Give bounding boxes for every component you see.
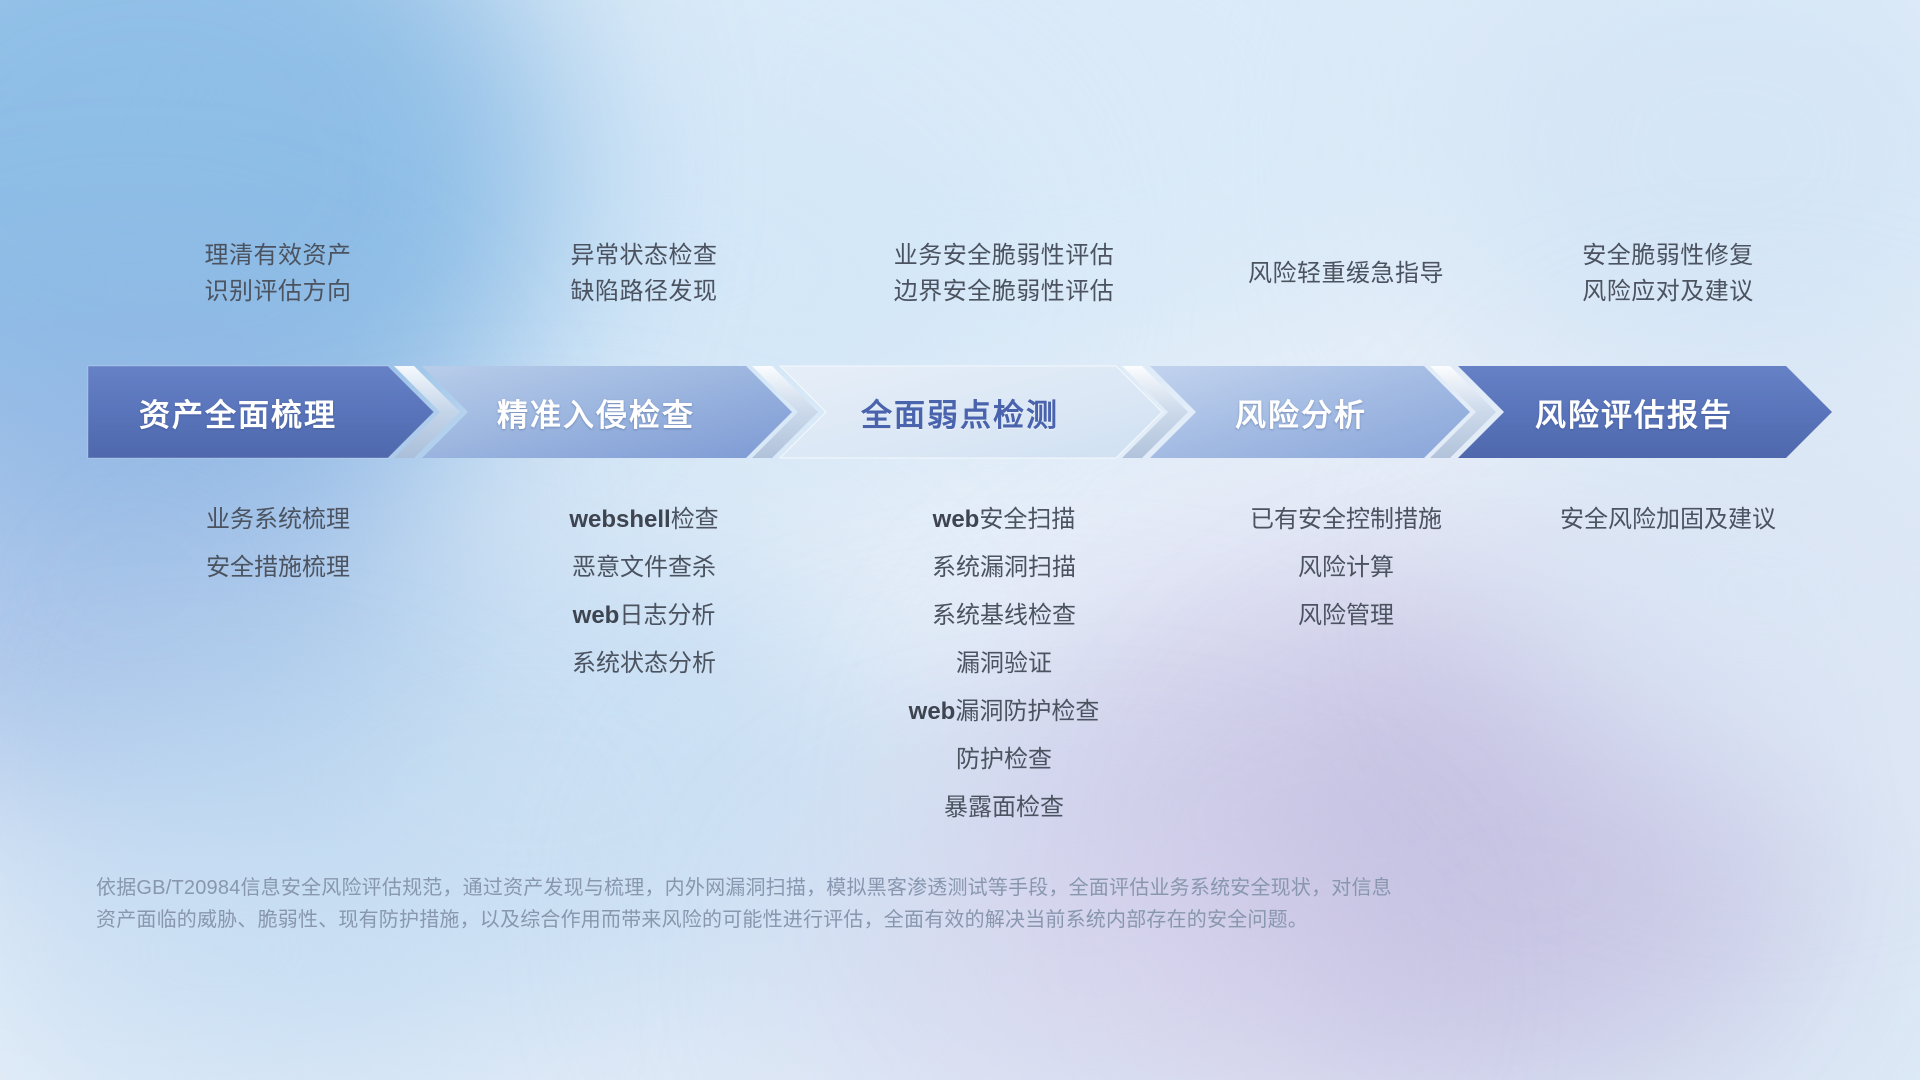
top-notes-risk-analysis: 风险轻重缓急指导 xyxy=(1188,226,1504,322)
list-item: 系统状态分析 xyxy=(572,640,716,688)
list-item-text: 系统状态分析 xyxy=(572,650,716,677)
list-item-text: 检查 xyxy=(671,506,719,533)
chevron-shape-weakness-detection[interactable] xyxy=(780,366,1162,458)
list-item: 已有安全控制措施 xyxy=(1250,496,1442,544)
list-item-text: 系统漏洞扫描 xyxy=(932,554,1076,581)
bottom-list-weakness-detection: web安全扫描 系统漏洞扫描 系统基线检查 漏洞验证 web漏洞防护检查 防护检… xyxy=(820,496,1188,832)
bottom-list-intrusion-check: webshell检查 恶意文件查杀 web日志分析 系统状态分析 xyxy=(468,496,820,832)
bottom-list-asset-inventory: 业务系统梳理 安全措施梳理 xyxy=(88,496,468,832)
chevron-shape-risk-report[interactable] xyxy=(1458,366,1832,458)
list-item-text: 恶意文件查杀 xyxy=(572,554,716,581)
top-note-line: 理清有效资产 xyxy=(205,244,352,268)
list-item-text: 风险计算 xyxy=(1298,554,1394,581)
process-diagram: 理清有效资产 识别评估方向 异常状态检查 缺陷路径发现 业务安全脆弱性评估 边界… xyxy=(0,0,1920,1080)
list-item-text: 风险管理 xyxy=(1298,602,1394,629)
list-item: 漏洞验证 xyxy=(956,640,1052,688)
top-captions-row: 理清有效资产 识别评估方向 异常状态检查 缺陷路径发现 业务安全脆弱性评估 边界… xyxy=(88,226,1832,322)
top-notes-intrusion-check: 异常状态检查 缺陷路径发现 xyxy=(468,226,820,322)
top-notes-weakness-detection: 业务安全脆弱性评估 边界安全脆弱性评估 xyxy=(820,226,1188,322)
list-item-text: 漏洞验证 xyxy=(956,650,1052,677)
list-item: web日志分析 xyxy=(573,592,716,640)
list-item: web安全扫描 xyxy=(933,496,1076,544)
list-item-text: 日志分析 xyxy=(619,602,715,629)
list-item: 风险计算 xyxy=(1298,544,1394,592)
chevron-shapes xyxy=(88,366,1832,458)
list-item: 业务系统梳理 xyxy=(206,496,350,544)
footer-line-1: 依据GB/T20984信息安全风险评估规范，通过资产发现与梳理，内外网漏洞扫描，… xyxy=(96,872,1656,904)
bottom-list-risk-analysis: 已有安全控制措施 风险计算 风险管理 xyxy=(1188,496,1504,832)
top-note-line: 业务安全脆弱性评估 xyxy=(894,244,1115,268)
list-item-prefix: web xyxy=(573,602,620,629)
top-note-line: 边界安全脆弱性评估 xyxy=(894,280,1115,304)
list-item: webshell检查 xyxy=(569,496,718,544)
top-note-line: 安全脆弱性修复 xyxy=(1582,244,1754,268)
list-item: 暴露面检查 xyxy=(944,784,1064,832)
list-item: 防护检查 xyxy=(956,736,1052,784)
top-notes-risk-report: 安全脆弱性修复 风险应对及建议 xyxy=(1504,226,1832,322)
footer-description: 依据GB/T20984信息安全风险评估规范，通过资产发现与梳理，内外网漏洞扫描，… xyxy=(96,872,1656,936)
list-item: 系统漏洞扫描 xyxy=(932,544,1076,592)
top-note-line: 缺陷路径发现 xyxy=(571,280,718,304)
list-item: 恶意文件查杀 xyxy=(572,544,716,592)
list-item-text: 安全扫描 xyxy=(979,506,1075,533)
list-item-prefix: web xyxy=(909,698,956,725)
chevron-shape-asset-inventory[interactable] xyxy=(88,366,434,458)
list-item-prefix: web xyxy=(933,506,980,533)
list-item: web漏洞防护检查 xyxy=(909,688,1100,736)
top-note-line: 识别评估方向 xyxy=(205,280,352,304)
top-note-line: 风险轻重缓急指导 xyxy=(1248,262,1444,286)
top-note-line: 风险应对及建议 xyxy=(1582,280,1754,304)
bottom-list-risk-report: 安全风险加固及建议 xyxy=(1504,496,1832,832)
top-note-line: 异常状态检查 xyxy=(571,244,718,268)
list-item-text: 安全措施梳理 xyxy=(206,554,350,581)
list-item-prefix: webshell xyxy=(569,506,670,533)
footer-line-2: 资产面临的威胁、脆弱性、现有防护措施，以及综合作用而带来风险的可能性进行评估，全… xyxy=(96,904,1656,936)
list-item-text: 防护检查 xyxy=(956,746,1052,773)
list-item: 系统基线检查 xyxy=(932,592,1076,640)
list-item-text: 已有安全控制措施 xyxy=(1250,506,1442,533)
stage-chevron-band xyxy=(88,366,1832,458)
list-item-text: 业务系统梳理 xyxy=(206,506,350,533)
list-item-text: 暴露面检查 xyxy=(944,794,1064,821)
chevron-shape-intrusion-check[interactable] xyxy=(422,366,792,458)
list-item-text: 安全风险加固及建议 xyxy=(1560,506,1776,533)
list-item: 安全风险加固及建议 xyxy=(1560,496,1776,544)
list-item: 安全措施梳理 xyxy=(206,544,350,592)
bottom-lists-row: 业务系统梳理 安全措施梳理 webshell检查 恶意文件查杀 web日志分析 … xyxy=(88,496,1832,832)
list-item-text: 系统基线检查 xyxy=(932,602,1076,629)
chevron-shape-risk-analysis[interactable] xyxy=(1150,366,1470,458)
list-item: 风险管理 xyxy=(1298,592,1394,640)
top-notes-asset-inventory: 理清有效资产 识别评估方向 xyxy=(88,226,468,322)
list-item-text: 漏洞防护检查 xyxy=(955,698,1099,725)
